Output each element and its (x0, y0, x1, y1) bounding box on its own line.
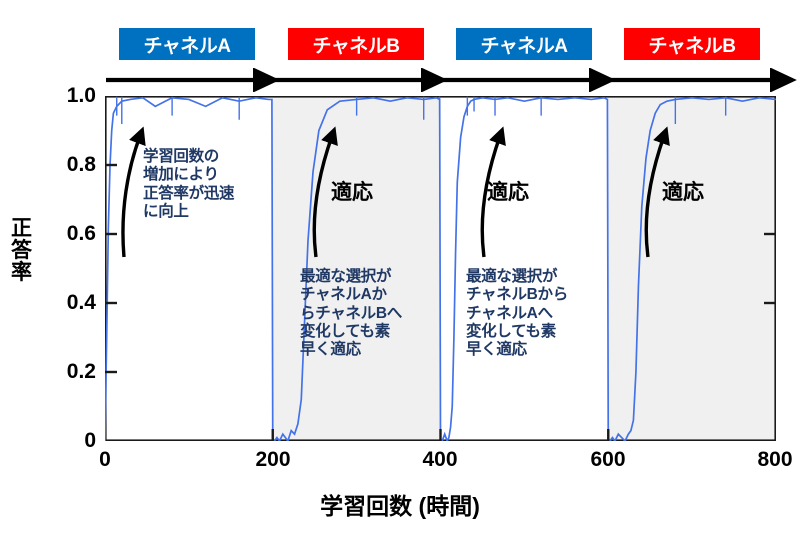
annotation-3: 最適な選択が チャネルBから チャネルAへ 変化しても素 早く適応 (466, 268, 568, 359)
annotation-2: 最適な選択が チャネルAか らチャネルBへ 変化しても素 早く適応 (300, 268, 402, 359)
annotation-adapt-2: 適応 (487, 176, 529, 206)
annotation-arrows (0, 0, 800, 533)
annotation-arrow-2 (314, 136, 332, 257)
annotation-adapt-1: 適応 (331, 176, 373, 206)
annotation-1: 学習回数の 増加により 正答率が迅速 に向上 (143, 148, 234, 221)
annotation-arrow-1 (123, 136, 140, 257)
chart-figure: チャネルA チャネルB チャネルA チャネルB 正 答 率 1.0 (0, 0, 800, 533)
annotation-adapt-3: 適応 (662, 176, 704, 206)
